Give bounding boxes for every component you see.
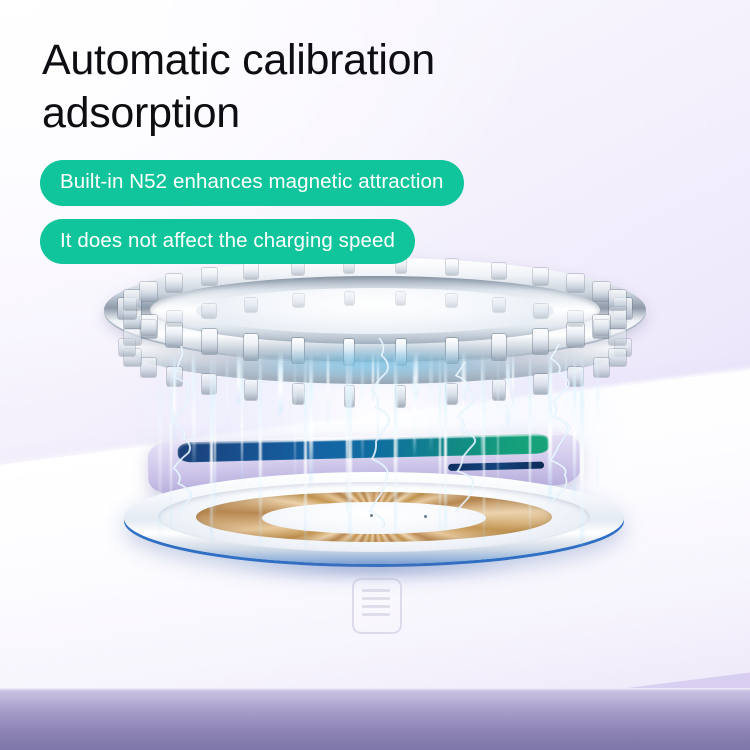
wireless-charger-puck (124, 472, 624, 580)
magnet-segment (609, 290, 627, 310)
magnet-segment (609, 307, 627, 329)
magnet-segment (396, 386, 405, 407)
magnet-segment (534, 304, 548, 318)
magnet-segment (533, 268, 548, 285)
feature-badge-speed: It does not affect the charging speed (40, 219, 415, 265)
magnet-segment (293, 294, 304, 307)
magnet-segment (293, 384, 304, 405)
magnet-segment (493, 298, 505, 311)
magnet-segment (446, 384, 457, 405)
magnet-segment (567, 323, 583, 347)
coil-center (262, 502, 486, 534)
magnet-segment (446, 294, 457, 307)
magnet-segment (202, 304, 216, 318)
magnet-segment (594, 358, 610, 376)
magnet-segment (567, 274, 583, 292)
magnet-segment (245, 298, 257, 311)
magnet-segment (141, 358, 157, 376)
feature-badge-list: Built-in N52 enhances magnetic attractio… (40, 160, 464, 277)
magnet-segment (124, 329, 140, 345)
coil-solder-dot (424, 515, 427, 518)
magnet-segment (396, 292, 405, 305)
phone-side-detail (448, 462, 544, 471)
page-title: Automatic calibration adsorption (42, 34, 642, 140)
embossed-brand-watermark (352, 578, 402, 634)
feature-badge-magnetic: Built-in N52 enhances magnetic attractio… (40, 160, 464, 206)
product-feature-poster: Automatic calibration adsorption Built-i… (0, 0, 750, 750)
magnet-segment (345, 292, 354, 305)
table-front-face (0, 688, 750, 750)
magnet-segment (124, 290, 142, 310)
magnet-segment (141, 320, 157, 335)
magnet-segment (609, 329, 625, 345)
coil-solder-dot (370, 514, 373, 517)
ring-underside-glow (164, 340, 584, 388)
magnet-segment (492, 263, 506, 280)
magnet-segment (593, 282, 610, 301)
magnet-segment (140, 282, 157, 301)
magnet-segment (345, 386, 354, 407)
magnet-segment (594, 320, 610, 335)
magnet-segment (167, 311, 182, 325)
magnet-segment (568, 311, 583, 325)
magnet-segment (609, 349, 625, 367)
magnet-segment (166, 323, 182, 347)
